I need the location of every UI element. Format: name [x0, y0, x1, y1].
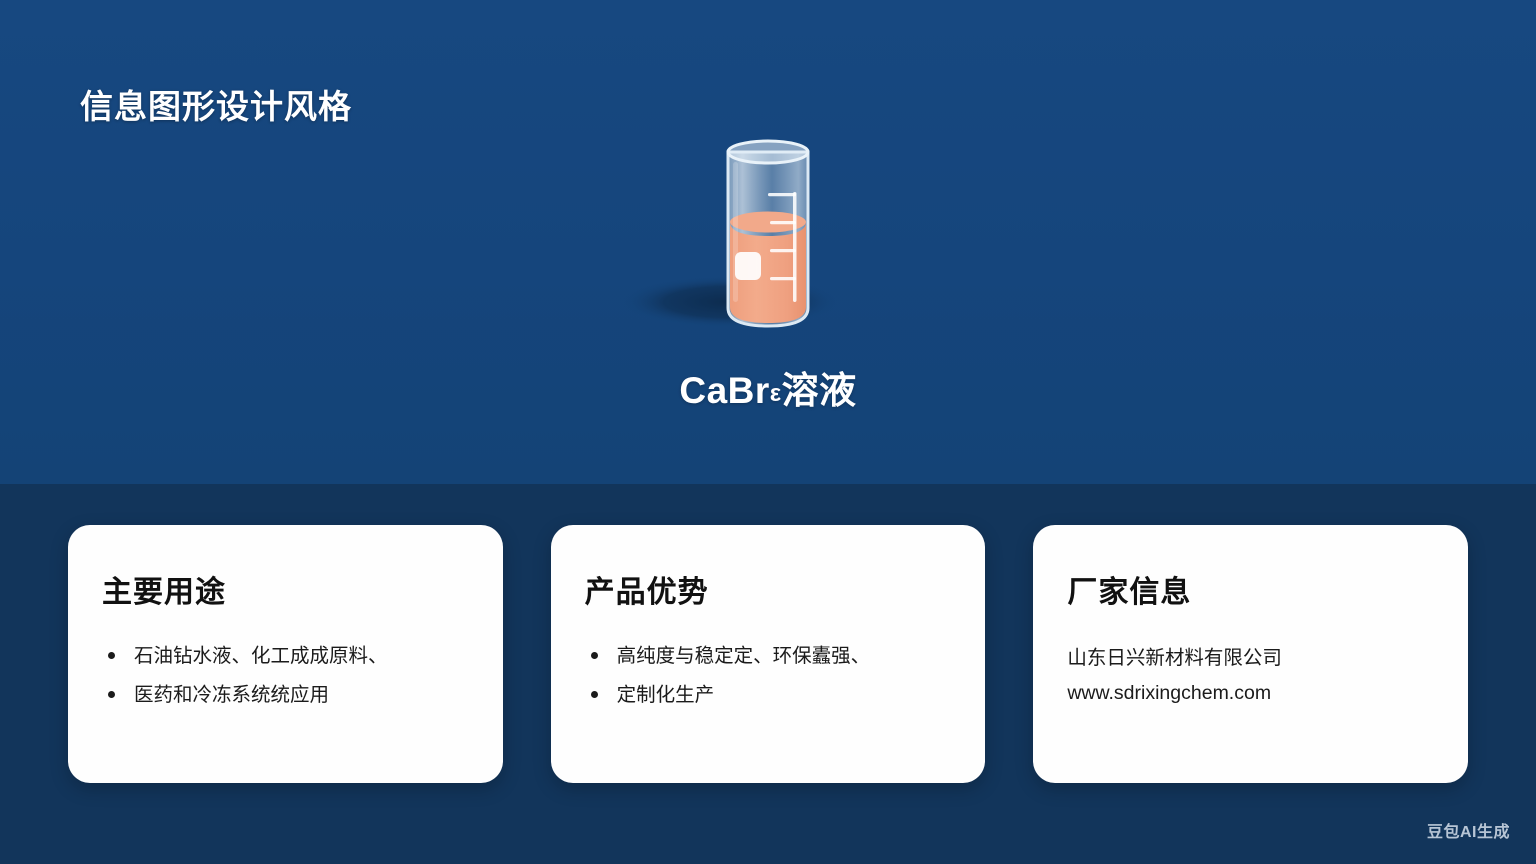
list-item: 医药和冷冻系统统应用 [102, 680, 469, 710]
list-item-label: 医药和冷冻系统统应用 [134, 684, 329, 706]
beaker-icon [618, 130, 918, 360]
bullet-dot-icon [108, 652, 115, 659]
slide-canvas: 信息图形设计风格 [0, 0, 1536, 864]
list-item-label: 定制化生产 [617, 684, 715, 706]
info-cards-row: 主要用途 石油钻水液、化工成成原料、 医药和冷冻系统统应用 产品优势 高纯度与稳… [68, 525, 1468, 783]
list-item: 高纯度与稳定定、环保蠹强、 [585, 641, 952, 671]
card-title: 主要用途 [102, 567, 469, 611]
card-main-uses[interactable]: 主要用途 石油钻水液、化工成成原料、 医药和冷冻系统统应用 [68, 525, 503, 783]
hero-caption-subscript: ε [770, 380, 782, 407]
page-title: 信息图形设计风格 [80, 80, 352, 128]
hero-caption-suffix: 溶液 [782, 370, 857, 411]
company-name: 山东日兴新材料有限公司 [1067, 641, 1434, 676]
card-title: 产品优势 [585, 567, 952, 611]
bullet-dot-icon [591, 691, 598, 698]
card-manufacturer-info[interactable]: 厂家信息 山东日兴新材料有限公司 www.sdrixingchem.com [1033, 525, 1468, 783]
list-item: 定制化生产 [585, 680, 952, 710]
card-bullet-list: 石油钻水液、化工成成原料、 医药和冷冻系统统应用 [102, 641, 469, 710]
company-website[interactable]: www.sdrixingchem.com [1067, 676, 1434, 711]
manufacturer-details: 山东日兴新材料有限公司 www.sdrixingchem.com [1067, 641, 1434, 711]
list-item: 石油钻水液、化工成成原料、 [102, 641, 469, 671]
bullet-dot-icon [591, 652, 598, 659]
hero-caption: CaBrε溶液 [0, 360, 1536, 414]
hero-illustration-area [0, 130, 1536, 360]
bullet-dot-icon [108, 691, 115, 698]
hero-caption-prefix: CaBr [679, 370, 769, 411]
list-item-label: 石油钻水液、化工成成原料、 [134, 645, 388, 667]
card-product-advantages[interactable]: 产品优势 高纯度与稳定定、环保蠹强、 定制化生产 [551, 525, 986, 783]
list-item-label: 高纯度与稳定定、环保蠹强、 [617, 645, 871, 667]
watermark-label: 豆包AI生成 [1427, 818, 1510, 842]
card-title: 厂家信息 [1067, 567, 1434, 611]
card-bullet-list: 高纯度与稳定定、环保蠹强、 定制化生产 [585, 641, 952, 710]
